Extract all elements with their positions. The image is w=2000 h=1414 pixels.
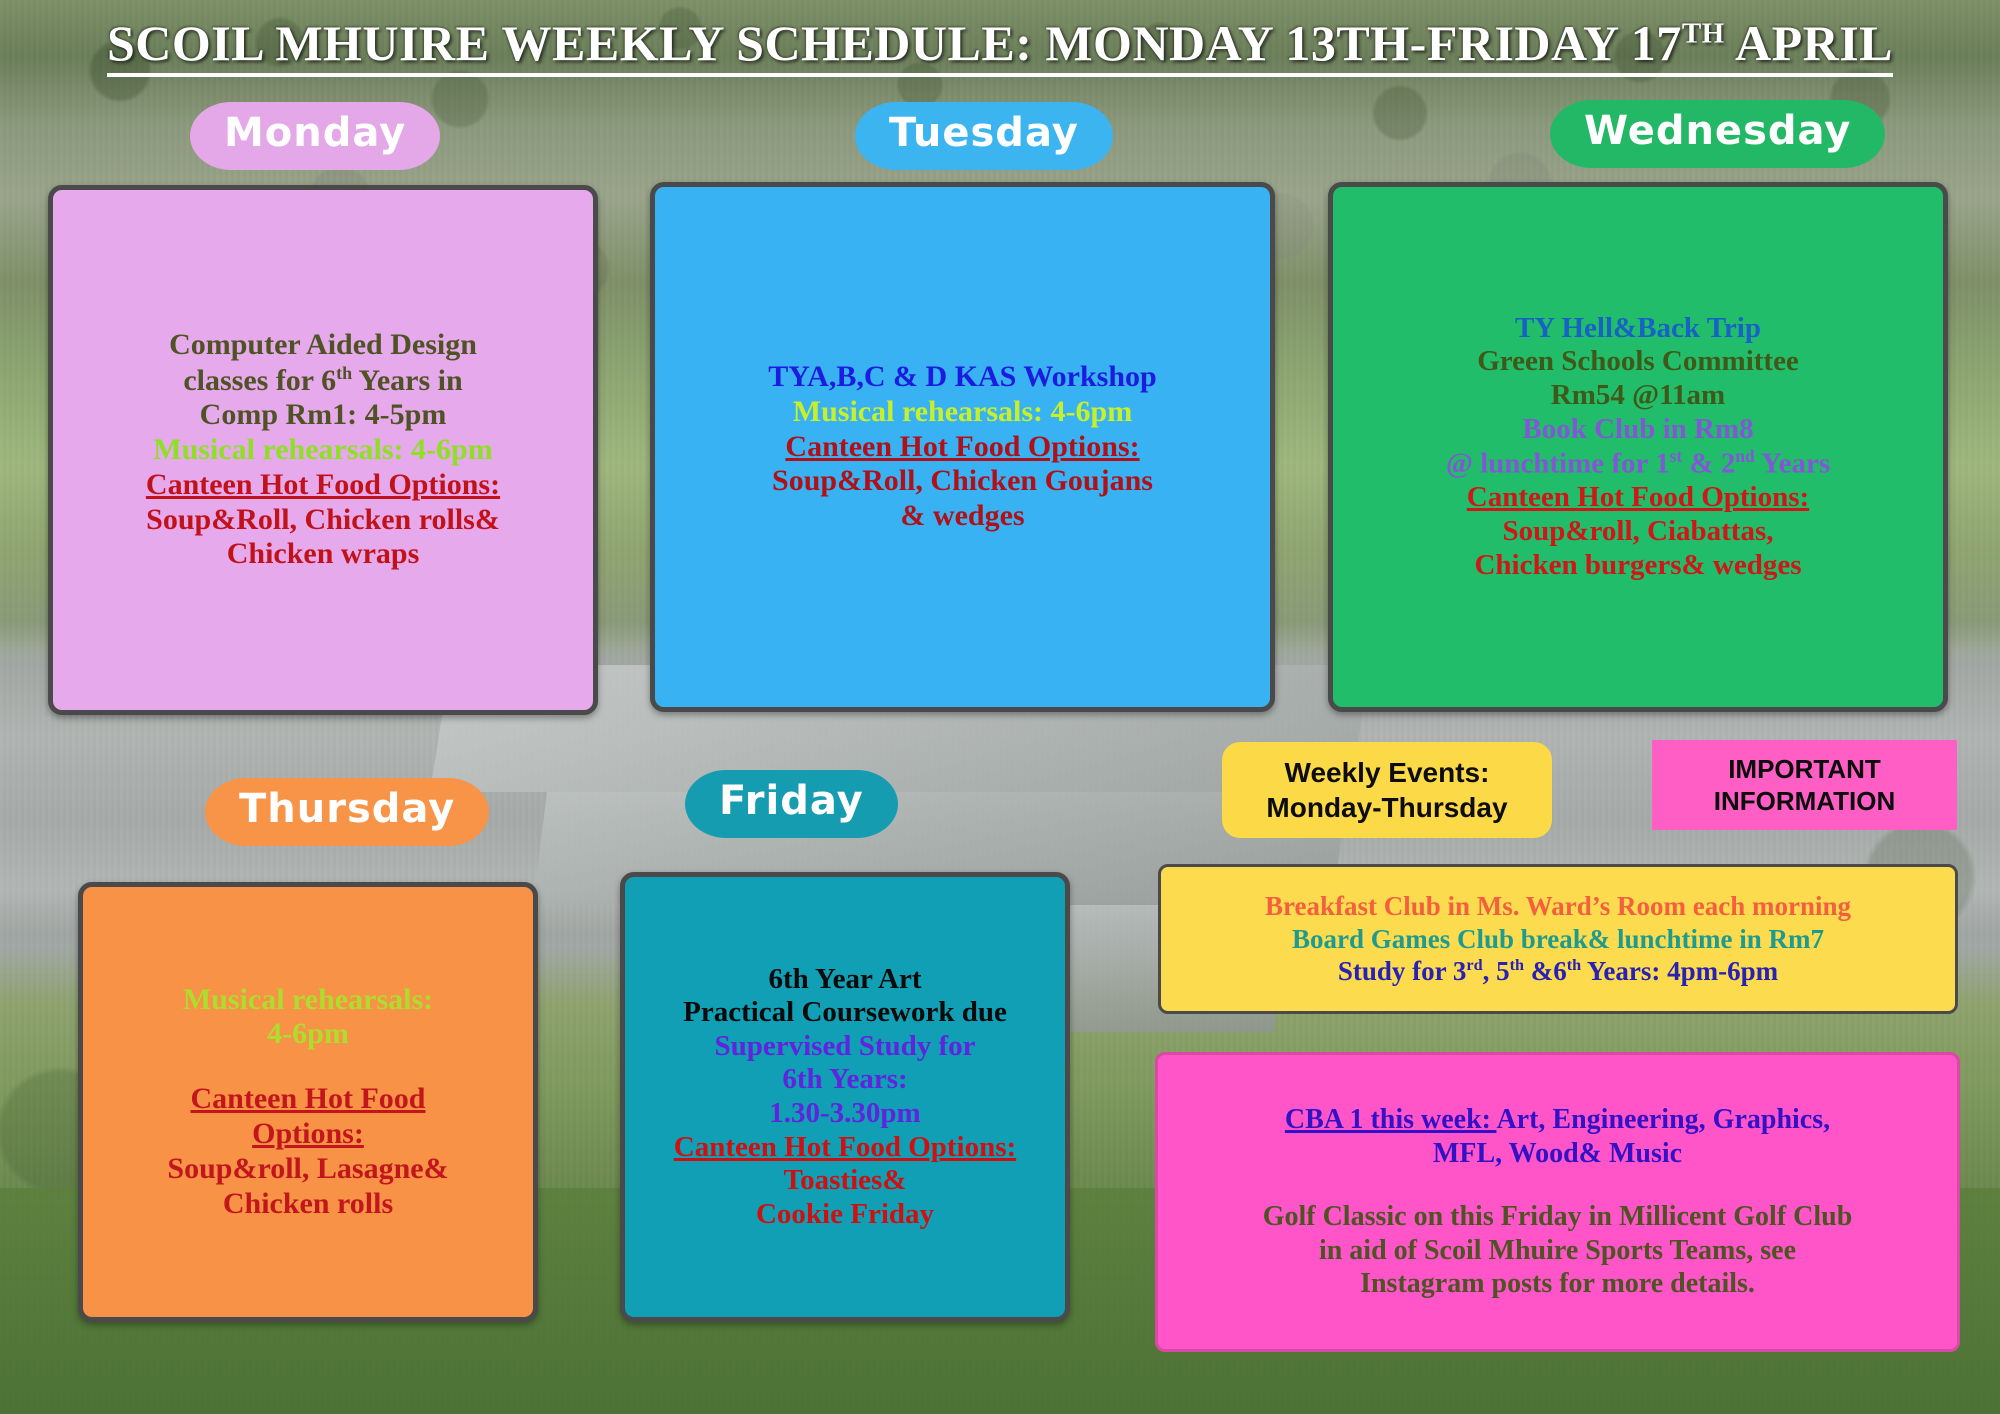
- card-text-line: Canteen Hot Food Options:: [67, 468, 579, 503]
- card-text-line: Chicken rolls: [97, 1187, 519, 1222]
- card-text-line: Soup&roll, Lasagne&: [97, 1152, 519, 1187]
- card-text-line: Chicken burgers& wedges: [1347, 549, 1929, 583]
- card-text-line: Soup&Roll, Chicken Goujans: [669, 464, 1256, 499]
- card-text-line: 6th Years:: [639, 1063, 1051, 1097]
- card-text-line: @ lunchtime for 1st & 2nd Years: [1347, 446, 1929, 481]
- card-text-line: Golf Classic on this Friday in Millicent…: [1170, 1200, 1945, 1234]
- day-card-wednesday: TY Hell&Back TripGreen Schools Committee…: [1328, 182, 1948, 712]
- card-text-line: Musical rehearsals: 4-6pm: [67, 433, 579, 468]
- card-text-line: Board Games Club break& lunchtime in Rm7: [1173, 923, 1943, 955]
- important-information-tag: IMPORTANT INFORMATION: [1652, 740, 1957, 830]
- card-text-line: classes for 6th Years in: [67, 363, 579, 399]
- important-information-tag-line2: INFORMATION: [1652, 785, 1957, 818]
- card-text-line: Instagram posts for more details.: [1170, 1267, 1945, 1301]
- important-information-tag-line1: IMPORTANT: [1652, 753, 1957, 786]
- card-text-line: Study for 3rd, 5th &6th Years: 4pm-6pm: [1173, 955, 1943, 987]
- card-text-line: Chicken wraps: [67, 537, 579, 572]
- page-title-ordinal: TH: [1682, 17, 1725, 49]
- card-text-line: Canteen Hot Food Options:: [669, 430, 1256, 465]
- card-text-line: in aid of Scoil Mhuire Sports Teams, see: [1170, 1234, 1945, 1268]
- day-label-monday: Monday: [190, 102, 440, 170]
- card-text-line: Supervised Study for: [639, 1030, 1051, 1064]
- card-text-line: & wedges: [669, 499, 1256, 534]
- card-text-line: Soup&roll, Ciabattas,: [1347, 515, 1929, 549]
- page-title-main: SCOIL MHUIRE WEEKLY SCHEDULE: MONDAY 13T…: [107, 15, 1682, 71]
- card-text-line: Musical rehearsals:: [97, 983, 519, 1018]
- weekly-events-tag-line1: Weekly Events:: [1222, 755, 1552, 790]
- card-text-line: Soup&Roll, Chicken rolls&: [67, 503, 579, 538]
- card-text-line: CBA 1 this week: Art, Engineering, Graph…: [1170, 1103, 1945, 1137]
- day-label-thursday: Thursday: [205, 778, 489, 846]
- card-text-line: Green Schools Committee: [1347, 345, 1929, 379]
- card-text-line: Musical rehearsals: 4-6pm: [669, 395, 1256, 430]
- day-card-tuesday: TYA,B,C & D KAS WorkshopMusical rehearsa…: [650, 182, 1275, 712]
- card-text-line: Toasties&: [639, 1164, 1051, 1198]
- card-text-line: Breakfast Club in Ms. Ward’s Room each m…: [1173, 890, 1943, 922]
- day-card-thursday: Musical rehearsals:4-6pmCanteen Hot Food…: [78, 882, 538, 1322]
- line-spacer: [1170, 1170, 1945, 1200]
- card-text-line: Rm54 @11am: [1347, 379, 1929, 413]
- card-text-line: TY Hell&Back Trip: [1347, 312, 1929, 346]
- weekly-events-panel: Breakfast Club in Ms. Ward’s Room each m…: [1158, 864, 1958, 1014]
- day-card-friday: 6th Year ArtPractical Coursework dueSupe…: [620, 872, 1070, 1322]
- card-text-line: Practical Coursework due: [639, 996, 1051, 1030]
- weekly-events-tag: Weekly Events: Monday-Thursday: [1222, 742, 1552, 838]
- card-text-line: Computer Aided Design: [67, 328, 579, 363]
- card-text-line: Canteen Hot Food Options:: [639, 1131, 1051, 1165]
- card-text-line: Options:: [97, 1117, 519, 1152]
- weekly-events-tag-line2: Monday-Thursday: [1222, 790, 1552, 825]
- important-information-panel: CBA 1 this week: Art, Engineering, Graph…: [1155, 1052, 1960, 1352]
- card-text-line: 4-6pm: [97, 1017, 519, 1052]
- day-label-friday: Friday: [685, 770, 898, 838]
- day-card-monday: Computer Aided Designclasses for 6th Yea…: [48, 185, 598, 715]
- card-text-line: 6th Year Art: [639, 963, 1051, 997]
- card-text-line: 1.30-3.30pm: [639, 1097, 1051, 1131]
- card-text-line: Comp Rm1: 4-5pm: [67, 398, 579, 433]
- card-text-line: Canteen Hot Food Options:: [1347, 481, 1929, 515]
- card-text-line: Book Club in Rm8: [1347, 413, 1929, 447]
- card-text-line: MFL, Wood& Music: [1170, 1137, 1945, 1171]
- day-label-wednesday: Wednesday: [1550, 100, 1885, 168]
- card-text-line: Cookie Friday: [639, 1198, 1051, 1232]
- card-text-line: Canteen Hot Food: [97, 1082, 519, 1117]
- page-title: SCOIL MHUIRE WEEKLY SCHEDULE: MONDAY 13T…: [0, 14, 2000, 72]
- day-label-tuesday: Tuesday: [855, 102, 1113, 170]
- page-title-tail: APRIL: [1725, 15, 1893, 71]
- card-text-line: TYA,B,C & D KAS Workshop: [669, 360, 1256, 395]
